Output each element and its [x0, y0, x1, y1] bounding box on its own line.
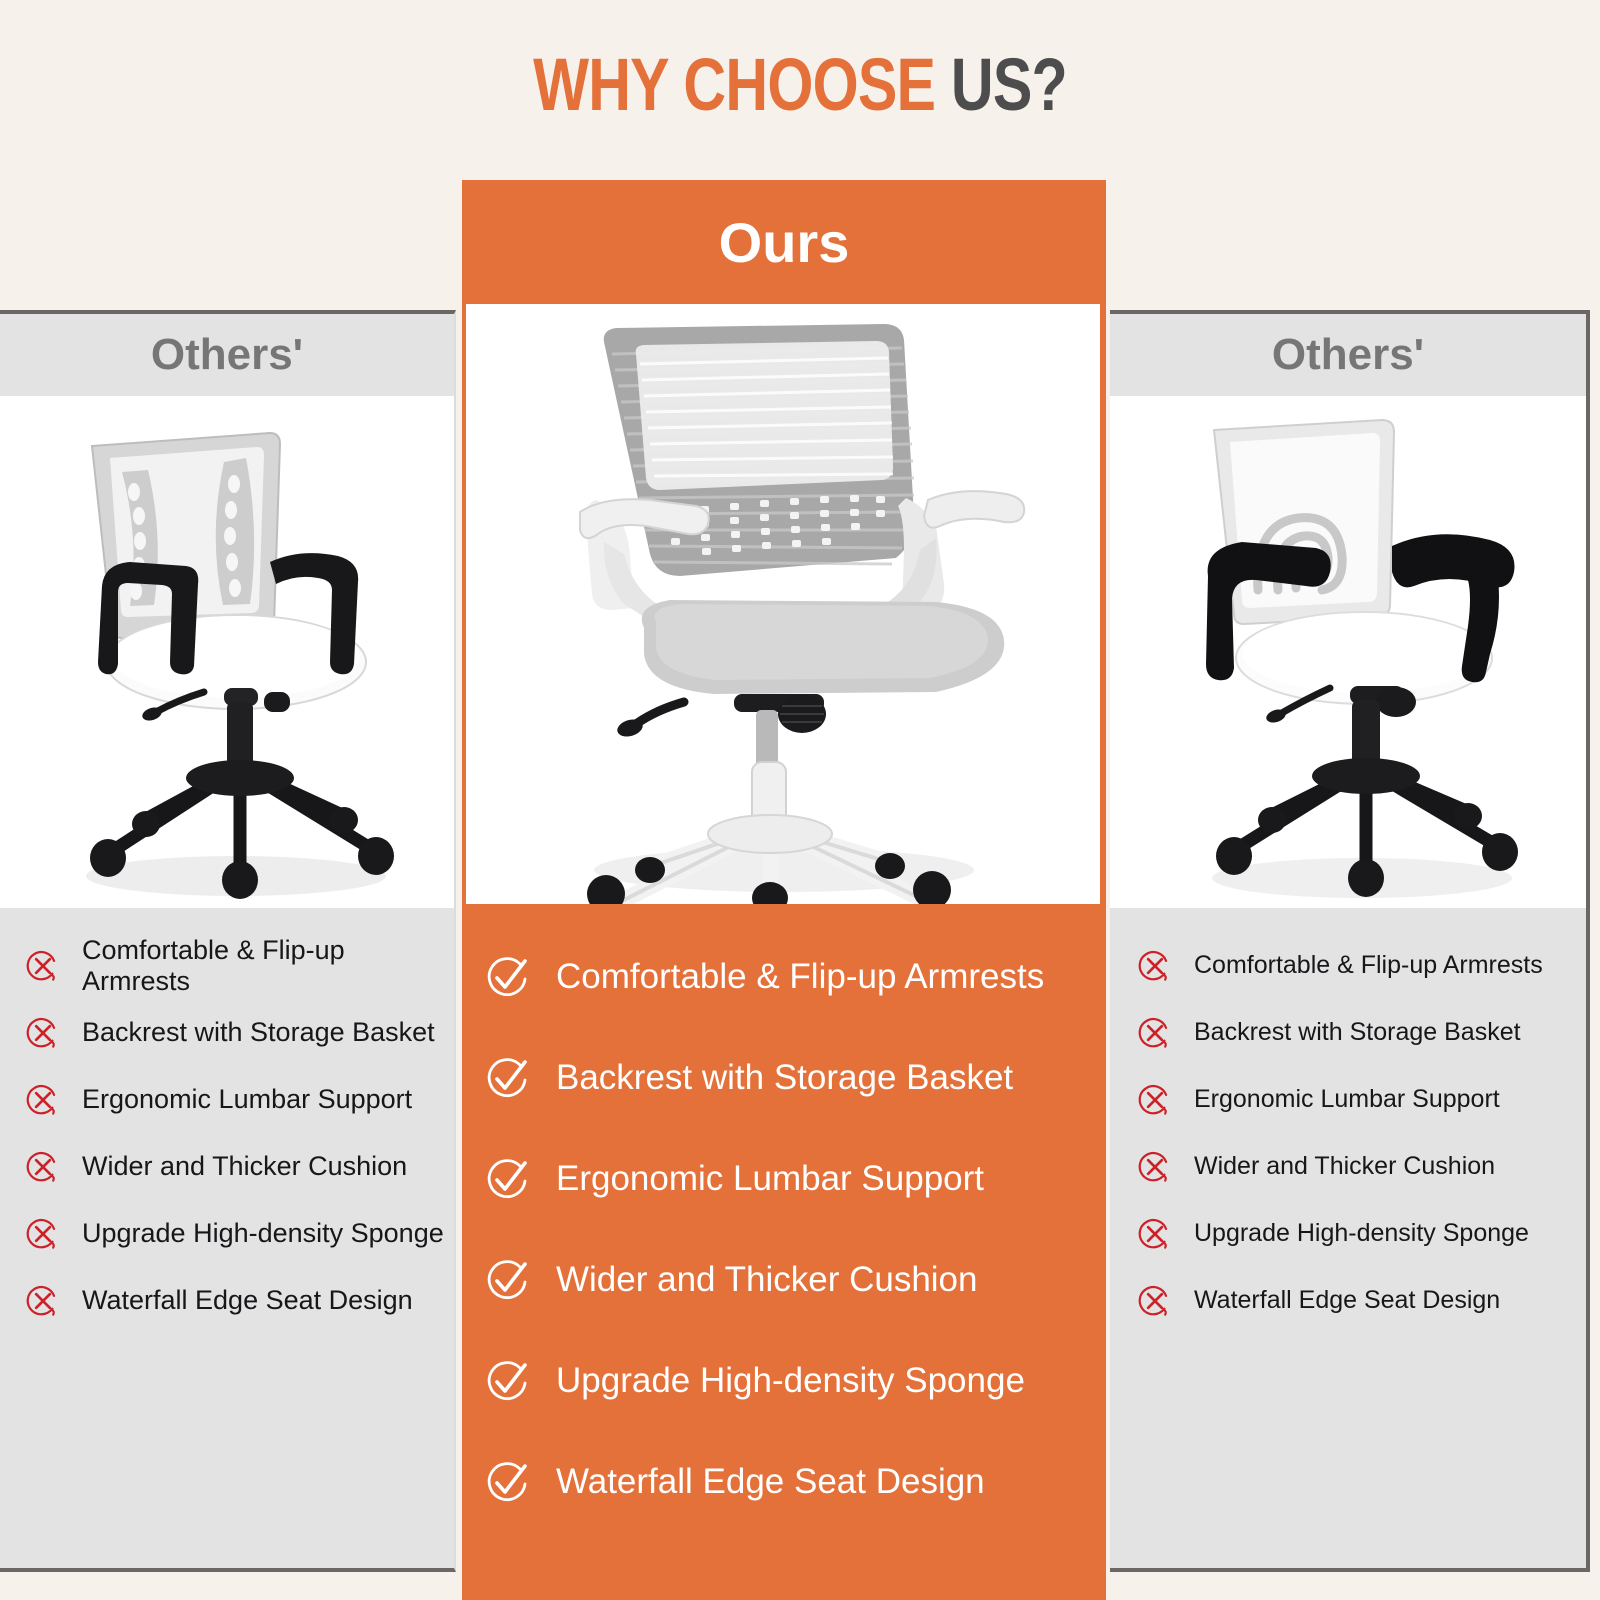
list-item: Comfortable & Flip-up Armrests [0, 932, 454, 999]
cross-circle-icon [1138, 1083, 1172, 1117]
why-choose-us-comparison-infographic: WHY CHOOSE US? Others' [0, 0, 1600, 1600]
list-item-label: Comfortable & Flip-up Armrests [82, 935, 454, 997]
others-right-column: Others' [1110, 310, 1590, 1572]
check-circle-icon [484, 1256, 532, 1304]
others-left-heading-label: Others' [151, 330, 303, 380]
list-item-label: Backrest with Storage Basket [1194, 1018, 1521, 1047]
ours-chair-image [466, 304, 1100, 904]
chair-illustration-ours [484, 310, 1084, 904]
cross-circle-icon [1138, 949, 1172, 983]
check-circle-icon [484, 1054, 532, 1102]
check-circle-icon [484, 953, 532, 1001]
list-item-label: Comfortable & Flip-up Armrests [556, 957, 1044, 997]
list-item-label: Waterfall Edge Seat Design [1194, 1286, 1500, 1315]
list-item-label: Comfortable & Flip-up Armrests [1194, 951, 1543, 980]
list-item: Comfortable & Flip-up Armrests [1110, 932, 1586, 999]
list-item: Ergonomic Lumbar Support [1110, 1066, 1586, 1133]
list-item: Wider and Thicker Cushion [1110, 1133, 1586, 1200]
list-item-label: Waterfall Edge Seat Design [82, 1285, 413, 1316]
list-item-label: Backrest with Storage Basket [556, 1058, 1013, 1098]
list-item: Wider and Thicker Cushion [0, 1133, 454, 1200]
others-left-column: Others' [0, 310, 456, 1572]
check-circle-icon [484, 1458, 532, 1506]
list-item: Waterfall Edge Seat Design [0, 1267, 454, 1334]
cross-circle-icon [1138, 1150, 1172, 1184]
list-item-label: Upgrade High-density Sponge [1194, 1219, 1529, 1248]
page-title-highlight: WHY CHOOSE [533, 43, 935, 126]
cross-circle-icon [1138, 1284, 1172, 1318]
list-item-label: Ergonomic Lumbar Support [1194, 1085, 1500, 1114]
others-right-feature-list: Comfortable & Flip-up Armrests Backrest … [1110, 908, 1586, 1334]
others-right-heading-label: Others' [1272, 330, 1424, 380]
cross-circle-icon [26, 949, 60, 983]
cross-circle-icon [26, 1284, 60, 1318]
page-title: WHY CHOOSE US? [160, 48, 1440, 122]
others-left-heading: Others' [0, 314, 454, 396]
list-item-label: Wider and Thicker Cushion [1194, 1152, 1495, 1181]
others-right-chair-image [1110, 396, 1586, 908]
others-left-chair-image [0, 396, 454, 908]
ours-heading: Ours [462, 180, 1106, 304]
list-item: Backrest with Storage Basket [0, 999, 454, 1066]
check-circle-icon [484, 1155, 532, 1203]
cross-circle-icon [26, 1150, 60, 1184]
list-item: Ergonomic Lumbar Support [462, 1128, 1106, 1229]
list-item: Upgrade High-density Sponge [0, 1200, 454, 1267]
list-item: Waterfall Edge Seat Design [462, 1431, 1106, 1532]
cross-circle-icon [26, 1217, 60, 1251]
cross-circle-icon [1138, 1016, 1172, 1050]
list-item: Wider and Thicker Cushion [462, 1229, 1106, 1330]
page-title-suffix: US? [951, 43, 1067, 126]
list-item: Upgrade High-density Sponge [462, 1330, 1106, 1431]
list-item-label: Backrest with Storage Basket [82, 1017, 435, 1048]
list-item-label: Wider and Thicker Cushion [82, 1151, 407, 1182]
chair-illustration-others-left [18, 400, 438, 908]
cross-circle-icon [1138, 1217, 1172, 1251]
list-item-label: Waterfall Edge Seat Design [556, 1462, 985, 1502]
ours-feature-list: Comfortable & Flip-up Armrests Backrest … [462, 904, 1106, 1532]
list-item: Backrest with Storage Basket [1110, 999, 1586, 1066]
others-left-feature-list: Comfortable & Flip-up Armrests Backrest … [0, 908, 454, 1334]
list-item-label: Upgrade High-density Sponge [556, 1361, 1025, 1401]
cross-circle-icon [26, 1016, 60, 1050]
check-circle-icon [484, 1357, 532, 1405]
list-item-label: Upgrade High-density Sponge [82, 1218, 444, 1249]
list-item: Upgrade High-density Sponge [1110, 1200, 1586, 1267]
list-item: Comfortable & Flip-up Armrests [462, 926, 1106, 1027]
list-item-label: Ergonomic Lumbar Support [556, 1159, 984, 1199]
cross-circle-icon [26, 1083, 60, 1117]
list-item: Waterfall Edge Seat Design [1110, 1267, 1586, 1334]
list-item: Backrest with Storage Basket [462, 1027, 1106, 1128]
list-item-label: Ergonomic Lumbar Support [82, 1084, 412, 1115]
list-item-label: Wider and Thicker Cushion [556, 1260, 978, 1300]
list-item: Ergonomic Lumbar Support [0, 1066, 454, 1133]
ours-heading-label: Ours [719, 210, 850, 275]
others-right-heading: Others' [1110, 314, 1586, 396]
chair-illustration-others-right [1146, 400, 1566, 908]
ours-column: Ours [462, 180, 1106, 1600]
